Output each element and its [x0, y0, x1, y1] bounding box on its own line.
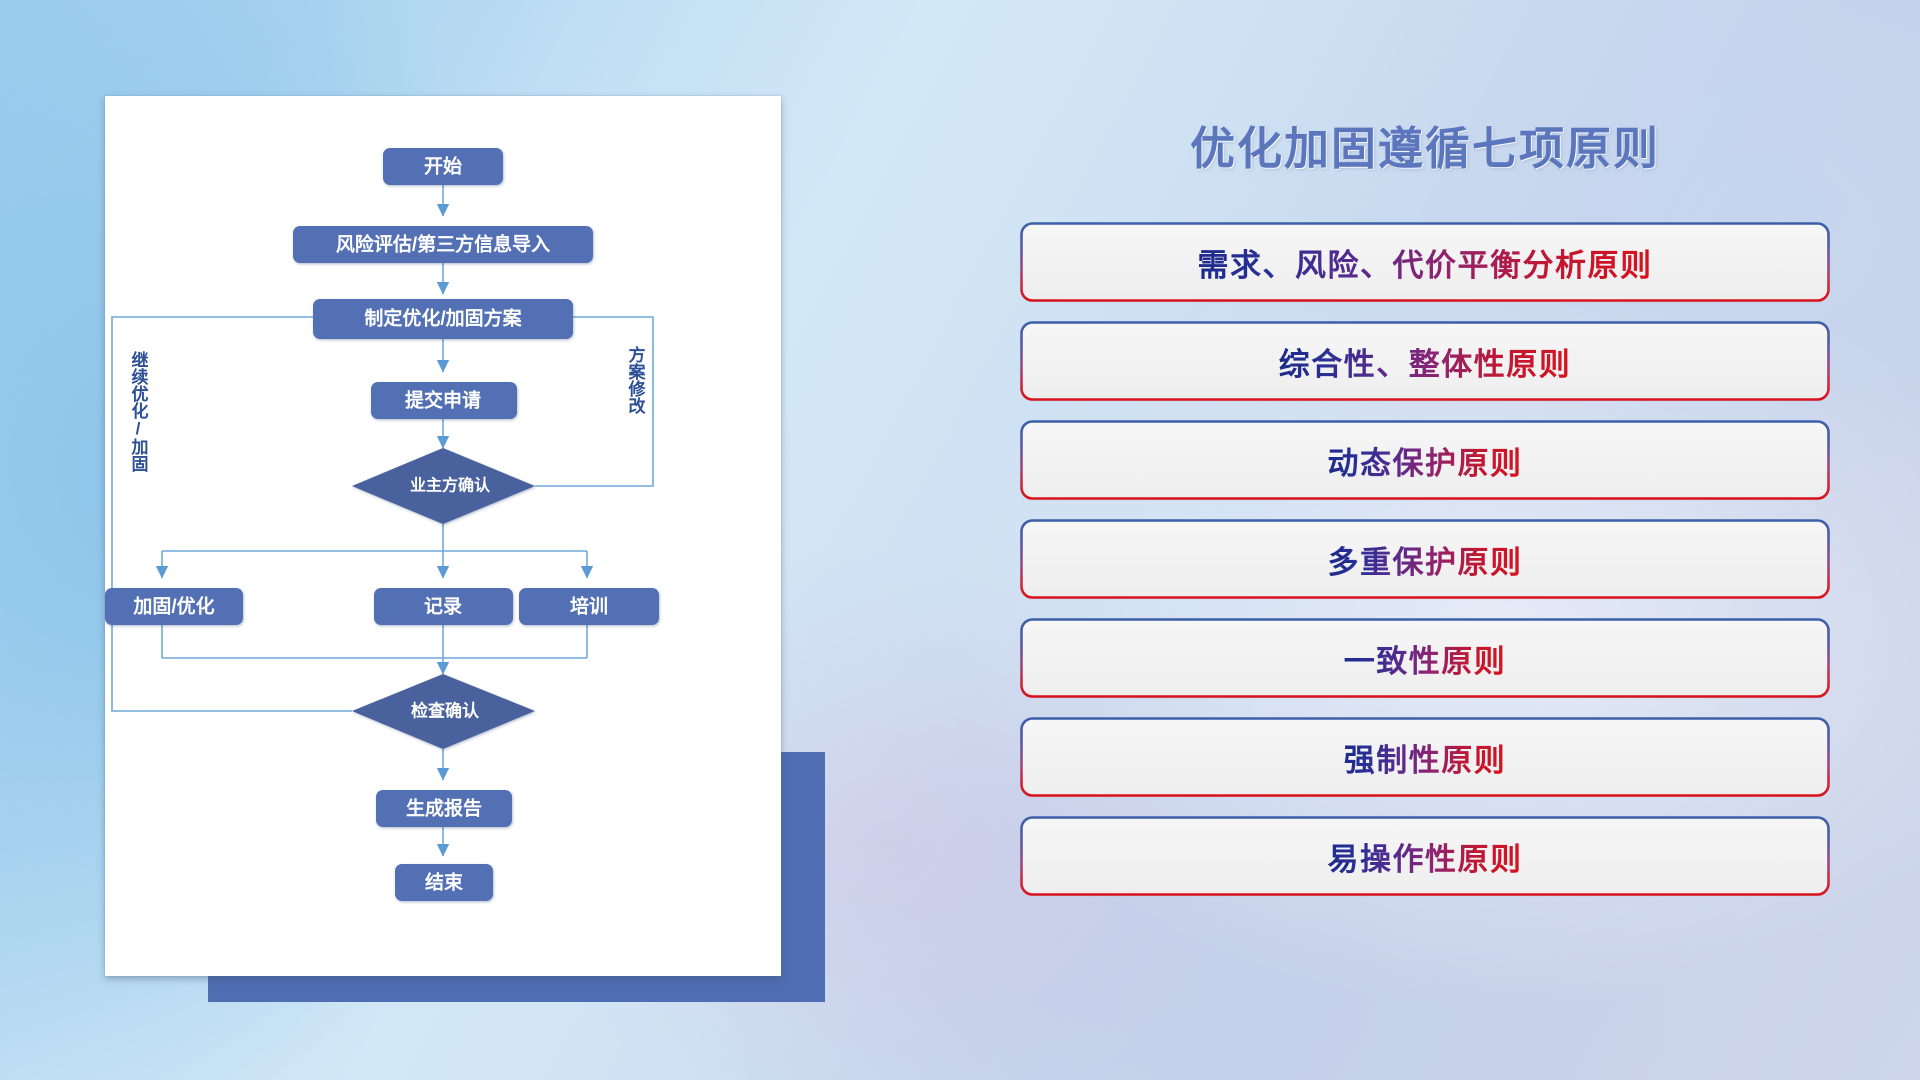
node-label-submit: 提交申请	[405, 389, 481, 412]
edge-label-plan-revise: 方案修改	[626, 345, 647, 415]
principle-item-4[interactable]: 多重保护原则	[1022, 521, 1828, 597]
principle-item-3[interactable]: 动态保护原则	[1022, 422, 1828, 498]
principle-label: 易操作性原则	[1328, 834, 1523, 879]
node-label-end: 结束	[425, 871, 464, 894]
node-label-check: 检查确认	[411, 701, 480, 721]
node-label-record: 记录	[424, 596, 462, 618]
edge-label-continue-optimize: 继续优化/加固	[129, 350, 150, 473]
principle-label: 强制性原则	[1344, 735, 1507, 780]
principle-label: 一致性原则	[1344, 636, 1507, 681]
node-label-plan: 制定优化/加固方案	[364, 307, 522, 330]
page-title: 优化加固遵循七项原则	[1020, 112, 1830, 177]
principle-item-2[interactable]: 综合性、整体性原则	[1022, 323, 1828, 399]
connector-check-to-plan-continue	[112, 317, 403, 711]
principles-list: 需求、风险、代价平衡分析原则 综合性、整体性原则 动态保护原则 多重保护原则 一	[1022, 224, 1828, 894]
principle-label: 需求、风险、代价平衡分析原则	[1198, 240, 1653, 285]
node-label-reinforce: 加固/优化	[132, 595, 214, 618]
flowchart-accent-bar-horizontal	[208, 975, 825, 1002]
principle-item-7[interactable]: 易操作性原则	[1022, 818, 1828, 894]
flowchart-diagram: 开始 风险评估/第三方信息导入 制定优化/加固方案 提交申请 业主方确认 加固/…	[105, 96, 781, 976]
principle-item-5[interactable]: 一致性原则	[1022, 620, 1828, 696]
node-label-train: 培训	[570, 595, 608, 618]
node-label-owner: 业主方确认	[410, 476, 491, 495]
principle-label: 动态保护原则	[1328, 438, 1523, 483]
principle-label: 多重保护原则	[1328, 537, 1523, 582]
node-label-start: 开始	[424, 155, 462, 178]
principle-label: 综合性、整体性原则	[1279, 339, 1572, 384]
node-label-report: 生成报告	[406, 797, 482, 820]
node-label-risk: 风险评估/第三方信息导入	[336, 233, 550, 256]
principles-panel: 优化加固遵循七项原则 需求、风险、代价平衡分析原则 综合性、整体性原则 动态保	[1020, 96, 1830, 996]
flowchart-card: 开始 风险评估/第三方信息导入 制定优化/加固方案 提交申请 业主方确认 加固/…	[105, 96, 781, 976]
principle-item-1[interactable]: 需求、风险、代价平衡分析原则	[1022, 224, 1828, 300]
principle-item-6[interactable]: 强制性原则	[1022, 719, 1828, 795]
